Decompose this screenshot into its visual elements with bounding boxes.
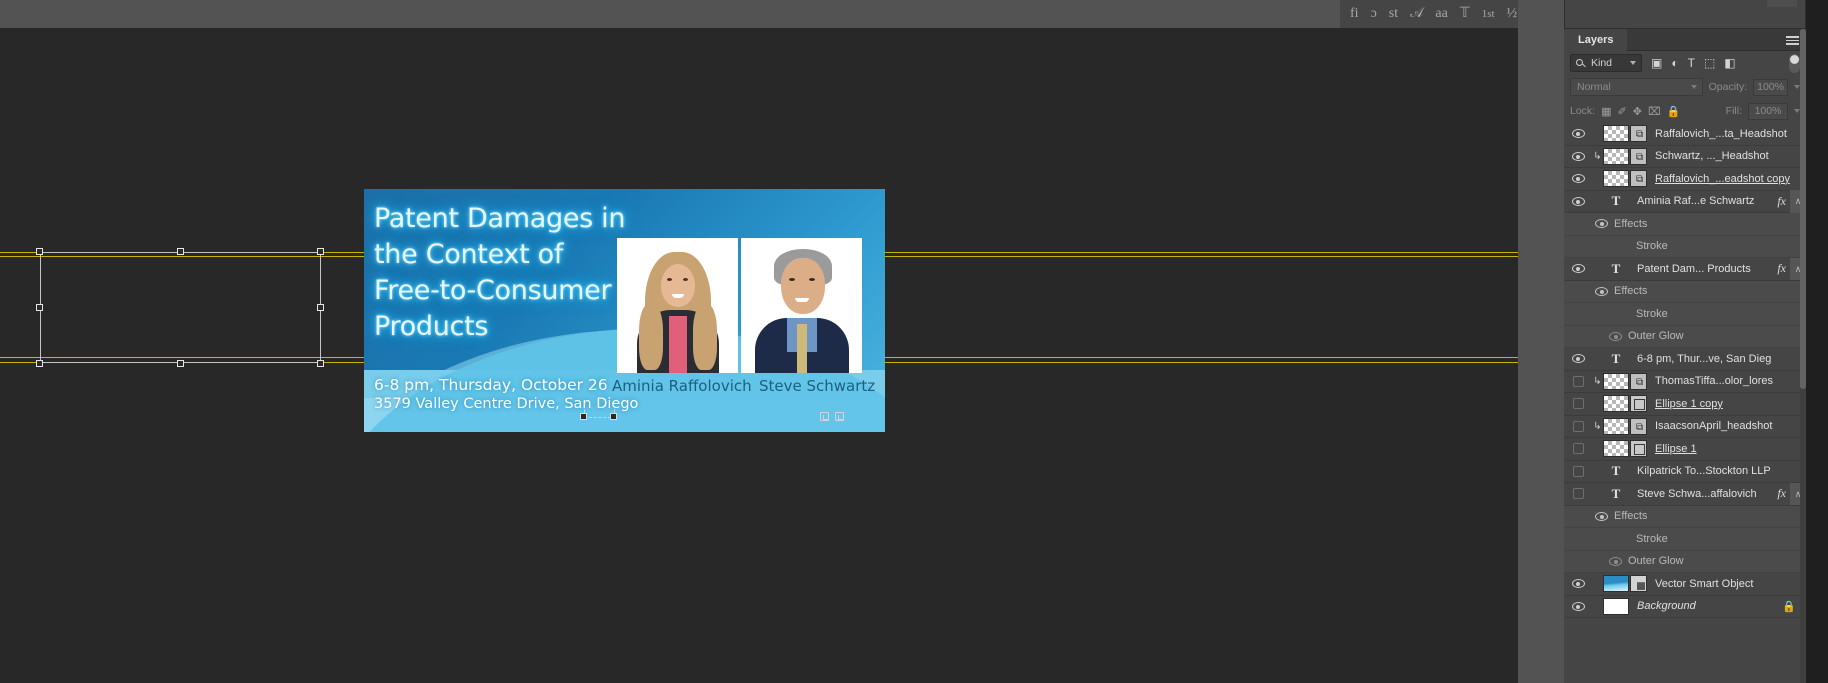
layer-row[interactable]: Background🔒 xyxy=(1564,596,1806,619)
filter-shape-icon[interactable]: ⬚ xyxy=(1704,57,1715,69)
eye-icon xyxy=(1572,174,1585,183)
collapsed-panel-above-layers[interactable] xyxy=(1564,0,1806,29)
panel-ghost-button[interactable] xyxy=(1767,0,1797,7)
layer-thumbnail[interactable] xyxy=(1603,575,1629,592)
layer-mask-thumbnail[interactable]: ⧉ xyxy=(1630,125,1647,142)
face-shape xyxy=(661,264,695,307)
layer-row[interactable]: ⧉Raffalovich_...ta_Headshot xyxy=(1564,123,1806,146)
layer-effects-group-row[interactable]: Effects xyxy=(1564,506,1806,529)
transform-handle-tr[interactable] xyxy=(317,248,324,255)
discretionary-ligatures-icon[interactable]: ɔ xyxy=(1371,7,1377,21)
eye-icon xyxy=(1572,129,1585,138)
mask-link-icon: ⧉ xyxy=(1636,421,1643,434)
effects-visibility-toggle[interactable] xyxy=(1564,219,1608,228)
layer-visibility-off-icon[interactable] xyxy=(1564,443,1592,454)
eye-icon xyxy=(1572,197,1585,206)
eye-right xyxy=(683,278,688,281)
eye-empty-icon xyxy=(1573,421,1584,432)
layer-row[interactable]: ↳⧉Schwartz, ..._Headshot xyxy=(1564,146,1806,169)
eye-icon xyxy=(1572,264,1585,273)
layer-name: Background xyxy=(1629,600,1782,612)
transform-handle-bc[interactable] xyxy=(177,360,184,367)
layer-name: 6-8 pm, Thur...ve, San Dieg xyxy=(1629,353,1806,365)
layers-filter-row: Kind ▣ ◐ T ⬚ ◧ xyxy=(1564,51,1806,75)
filter-adjustment-icon[interactable]: ◐ xyxy=(1671,57,1678,69)
flyer-title-line-1: Patent Damages in xyxy=(374,201,664,237)
mask-link-icon: ⧉ xyxy=(1636,376,1643,389)
layer-effects-group-row[interactable]: Effects xyxy=(1564,281,1806,304)
opacity-label: Opacity: xyxy=(1709,81,1748,93)
effect-label: Stroke xyxy=(1564,240,1806,252)
clipping-mask-arrow-icon: ↳ xyxy=(1592,421,1603,432)
eye-right xyxy=(809,278,815,281)
layer-name: Steve Schwa...affalovich xyxy=(1629,488,1777,500)
transform-handle-br[interactable] xyxy=(317,360,324,367)
filter-pixel-icon[interactable]: ▣ xyxy=(1651,57,1662,69)
type-layer-icon: T xyxy=(1603,193,1629,209)
layer-row[interactable]: T6-8 pm, Thur...ve, San Dieg xyxy=(1564,348,1806,371)
transform-selection-box[interactable] xyxy=(40,252,321,363)
effect-visibility-toggle[interactable] xyxy=(1564,557,1622,566)
layer-visibility-off-icon[interactable] xyxy=(1564,376,1592,387)
layer-name: Ellipse 1 copy xyxy=(1647,398,1806,410)
text-box-handle-left[interactable] xyxy=(580,413,587,420)
eye-icon xyxy=(1609,557,1622,566)
layer-row[interactable]: ↳⧉IsaacsonApril_headshot xyxy=(1564,416,1806,439)
speaker-photo-2 xyxy=(741,238,862,373)
panel-menu-icon[interactable] xyxy=(1786,36,1799,45)
lock-row: Lock: ▦ ✐ ✥ ⌧ 🔒 Fill: 100% xyxy=(1564,99,1806,123)
speaker-name-2: Steve Schwartz xyxy=(759,377,875,395)
layer-mask-thumbnail[interactable]: ⧉ xyxy=(1630,148,1647,165)
layer-mask-thumbnail[interactable]: ⧉ xyxy=(1630,170,1647,187)
tab-layers[interactable]: Layers xyxy=(1564,29,1627,51)
eye-icon xyxy=(1595,512,1608,521)
dock-gutter xyxy=(1518,0,1564,683)
layer-name: Patent Dam... Products xyxy=(1629,263,1777,275)
eye-icon xyxy=(1595,219,1608,228)
eye-icon xyxy=(1572,602,1585,611)
layer-visibility-off-icon[interactable] xyxy=(1564,466,1592,477)
tie-shape xyxy=(797,324,807,373)
layer-visibility-on-icon[interactable] xyxy=(1564,264,1592,273)
stylistic-alternates-icon[interactable]: 𝕋 xyxy=(1460,7,1470,21)
layer-row[interactable]: ⧉Raffalovich_...eadshot copy xyxy=(1564,168,1806,191)
eye-empty-icon xyxy=(1573,376,1584,387)
blouse-shape xyxy=(669,316,687,373)
eye-empty-icon xyxy=(1573,466,1584,477)
layer-visibility-on-icon[interactable] xyxy=(1564,579,1592,588)
mask-link-icon: ⧉ xyxy=(1636,128,1643,141)
hair-right xyxy=(693,304,717,370)
layer-name: IsaacsonApril_headshot xyxy=(1647,420,1806,432)
eye-icon xyxy=(1572,579,1585,588)
blend-mode-select[interactable]: Normal xyxy=(1570,78,1703,96)
layer-row[interactable]: TKilpatrick To...Stockton LLP xyxy=(1564,461,1806,484)
layer-effect-row[interactable]: Stroke xyxy=(1564,236,1806,259)
layer-row[interactable]: Vector Smart Object xyxy=(1564,573,1806,596)
layer-name: Schwartz, ..._Headshot xyxy=(1647,150,1806,162)
layer-thumbnail[interactable] xyxy=(1603,418,1629,435)
blend-mode-row: Normal Opacity: 100% xyxy=(1564,75,1806,99)
layer-effects-fx-icon[interactable]: fx xyxy=(1777,194,1790,209)
eye-left xyxy=(667,278,672,281)
swash-icon[interactable]: 𝒜 xyxy=(1410,7,1423,21)
transform-handle-ml[interactable] xyxy=(36,304,43,311)
layer-visibility-on-icon[interactable] xyxy=(1564,129,1592,138)
filter-kind-value: Kind xyxy=(1591,57,1612,69)
eye-empty-icon xyxy=(1573,443,1584,454)
photoshop-window: fi ɔ st 𝒜 aa 𝕋 1st ½ English: USA aa Cri… xyxy=(0,0,1828,683)
layer-visibility-on-icon[interactable] xyxy=(1564,602,1592,611)
flyer-artwork[interactable]: Patent Damages in the Context of Free-to… xyxy=(364,189,885,432)
transform-handle-tc[interactable] xyxy=(177,248,184,255)
layer-name: Raffalovich_...ta_Headshot xyxy=(1647,128,1806,140)
layer-name: Raffalovich_...eadshot copy xyxy=(1647,173,1806,185)
eye-icon xyxy=(1572,354,1585,363)
fractions-icon[interactable]: ½ xyxy=(1507,7,1518,21)
layer-effects-fx-icon[interactable]: fx xyxy=(1777,261,1790,276)
eye-icon xyxy=(1572,152,1585,161)
layer-effects-group-row[interactable]: Effects xyxy=(1564,213,1806,236)
layer-mask-thumbnail[interactable]: ⧉ xyxy=(1630,373,1647,390)
right-dock: Layers Kind ▣ ◐ T ⬚ ◧ Normal xyxy=(1518,0,1828,683)
layer-name: Kilpatrick To...Stockton LLP xyxy=(1629,465,1806,477)
layer-thumbnail[interactable] xyxy=(1603,440,1629,457)
eye-empty-icon xyxy=(1573,398,1584,409)
type-layer-icon: T xyxy=(1603,463,1629,479)
layer-visibility-on-icon[interactable] xyxy=(1564,197,1592,206)
layer-row[interactable]: TPatent Dam... Productsfx∧ xyxy=(1564,258,1806,281)
layer-name: Aminia Raf...e Schwartz xyxy=(1629,195,1777,207)
layer-visibility-off-icon[interactable] xyxy=(1564,398,1592,409)
face-shape xyxy=(781,258,825,314)
eye-empty-icon xyxy=(1573,488,1584,499)
layers-scrollbar-thumb[interactable] xyxy=(1800,29,1806,389)
transform-handle-mr[interactable] xyxy=(317,304,324,311)
layer-mask-thumbnail[interactable]: ⧉ xyxy=(1630,418,1647,435)
layer-thumbnail[interactable] xyxy=(1603,373,1629,390)
effects-visibility-toggle[interactable] xyxy=(1564,287,1608,296)
layer-visibility-off-icon[interactable] xyxy=(1564,421,1592,432)
effects-group-label: Effects xyxy=(1608,218,1806,230)
layers-list[interactable]: ⧉Raffalovich_...ta_Headshot↳⧉Schwartz, .… xyxy=(1564,123,1806,647)
clipping-mask-arrow-icon: ↳ xyxy=(1592,151,1603,162)
eye-left xyxy=(789,278,795,281)
lock-artboard-nesting-icon[interactable]: ⌧ xyxy=(1648,105,1661,118)
type-layer-icon: T xyxy=(1603,261,1629,277)
hair-left xyxy=(639,304,663,370)
lock-all-icon[interactable]: 🔒 xyxy=(1667,105,1681,118)
filter-type-icon[interactable]: T xyxy=(1688,57,1695,69)
layers-scrollbar[interactable] xyxy=(1800,29,1806,683)
layers-panel: Layers Kind ▣ ◐ T ⬚ ◧ Normal xyxy=(1564,29,1806,683)
transform-handle-bl[interactable] xyxy=(36,360,43,367)
text-box-handle-right[interactable] xyxy=(610,413,617,420)
filter-smartobject-icon[interactable]: ◧ xyxy=(1724,57,1735,69)
layer-name: Ellipse 1 xyxy=(1647,443,1806,455)
contextual-alternates-icon[interactable]: st xyxy=(1389,7,1398,21)
eye-icon xyxy=(1595,287,1608,296)
layer-row[interactable]: TAminia Raf...e Schwartzfx∧ xyxy=(1564,191,1806,214)
canvas-area[interactable]: Patent Damages in the Context of Free-to… xyxy=(0,28,1518,683)
mask-link-icon: ⧉ xyxy=(1636,151,1643,164)
eye-icon xyxy=(1609,332,1622,341)
layer-thumbnail[interactable] xyxy=(1603,148,1629,165)
ordinals-icon[interactable]: 1st xyxy=(1482,9,1495,20)
opentype-glyph-row: fi ɔ st 𝒜 aa 𝕋 1st ½ xyxy=(1344,2,1530,26)
layer-visibility-on-icon[interactable] xyxy=(1564,354,1592,363)
effects-visibility-toggle[interactable] xyxy=(1564,512,1608,521)
layer-visibility-off-icon[interactable] xyxy=(1564,488,1592,499)
chevron-down-icon xyxy=(1630,61,1636,65)
layer-thumbnail[interactable] xyxy=(1603,170,1629,187)
layer-name: Vector Smart Object xyxy=(1647,578,1806,590)
chevron-down-icon xyxy=(1691,85,1697,89)
filter-kind-select[interactable]: Kind xyxy=(1570,54,1642,72)
layer-row[interactable]: ↳⧉ThomasTiffa...olor_lores xyxy=(1564,371,1806,394)
smile xyxy=(795,298,809,302)
layer-thumbnail[interactable] xyxy=(1603,598,1629,615)
text-box-link-dashes xyxy=(589,417,611,418)
mask-link-icon: ⧉ xyxy=(1636,173,1643,186)
layer-visibility-on-icon[interactable] xyxy=(1564,152,1592,161)
effects-group-label: Effects xyxy=(1608,285,1806,297)
effect-label: Stroke xyxy=(1564,308,1806,320)
layer-effect-row[interactable]: Outer Glow xyxy=(1564,326,1806,349)
effects-group-label: Effects xyxy=(1608,510,1806,522)
layer-effect-row[interactable]: Stroke xyxy=(1564,303,1806,326)
effect-visibility-toggle[interactable] xyxy=(1564,332,1622,341)
lock-label: Lock: xyxy=(1570,105,1595,117)
lock-image-pixels-icon[interactable]: ✐ xyxy=(1618,105,1627,118)
standard-ligatures-icon[interactable]: fi xyxy=(1350,7,1359,21)
clipping-mask-arrow-icon: ↳ xyxy=(1592,376,1603,387)
layer-row[interactable]: TSteve Schwa...affalovichfx∧ xyxy=(1564,483,1806,506)
effect-label: Stroke xyxy=(1564,533,1806,545)
layer-effect-row[interactable]: Stroke xyxy=(1564,528,1806,551)
speaker-photo-1 xyxy=(617,238,738,373)
layers-panel-tabbar: Layers xyxy=(1564,29,1806,51)
lock-transparent-pixels-icon[interactable]: ▦ xyxy=(1601,105,1611,118)
vector-mask-thumbnail[interactable] xyxy=(1630,395,1647,412)
layer-thumbnail[interactable] xyxy=(1603,395,1629,412)
fill-label: Fill: xyxy=(1726,105,1742,117)
lock-position-icon[interactable]: ✥ xyxy=(1633,105,1642,118)
effect-label: Outer Glow xyxy=(1622,555,1806,567)
type-layer-icon: T xyxy=(1603,486,1629,502)
layer-row[interactable]: Ellipse 1 xyxy=(1564,438,1806,461)
options-bar xyxy=(0,0,1340,28)
event-address: 3579 Valley Centre Drive, San Diego xyxy=(374,395,684,414)
titling-alternates-icon[interactable]: aa xyxy=(1435,7,1447,21)
artboard-marker-icon[interactable] xyxy=(835,412,844,421)
type-layer-icon: T xyxy=(1603,351,1629,367)
effect-label: Outer Glow xyxy=(1622,330,1806,342)
filter-enable-toggle[interactable] xyxy=(1789,54,1800,73)
opacity-input[interactable]: 100% xyxy=(1753,79,1788,96)
layer-effects-fx-icon[interactable]: fx xyxy=(1777,486,1790,501)
search-icon xyxy=(1576,59,1583,66)
dock-edge xyxy=(1806,0,1828,683)
layer-visibility-on-icon[interactable] xyxy=(1564,174,1592,183)
layer-row[interactable]: Ellipse 1 copy xyxy=(1564,393,1806,416)
layer-name: ThomasTiffa...olor_lores xyxy=(1647,375,1806,387)
fill-input[interactable]: 100% xyxy=(1748,103,1788,120)
layer-effect-row[interactable]: Outer Glow xyxy=(1564,551,1806,574)
layer-thumbnail[interactable] xyxy=(1603,125,1629,142)
blend-mode-value: Normal xyxy=(1577,81,1611,93)
transform-handle-tl[interactable] xyxy=(36,248,43,255)
speaker-name-1: Aminia Raffolovich xyxy=(612,377,752,395)
vector-mask-thumbnail[interactable] xyxy=(1630,440,1647,457)
smart-object-badge-icon xyxy=(1630,575,1647,592)
artboard-marker-icon[interactable] xyxy=(820,412,829,421)
